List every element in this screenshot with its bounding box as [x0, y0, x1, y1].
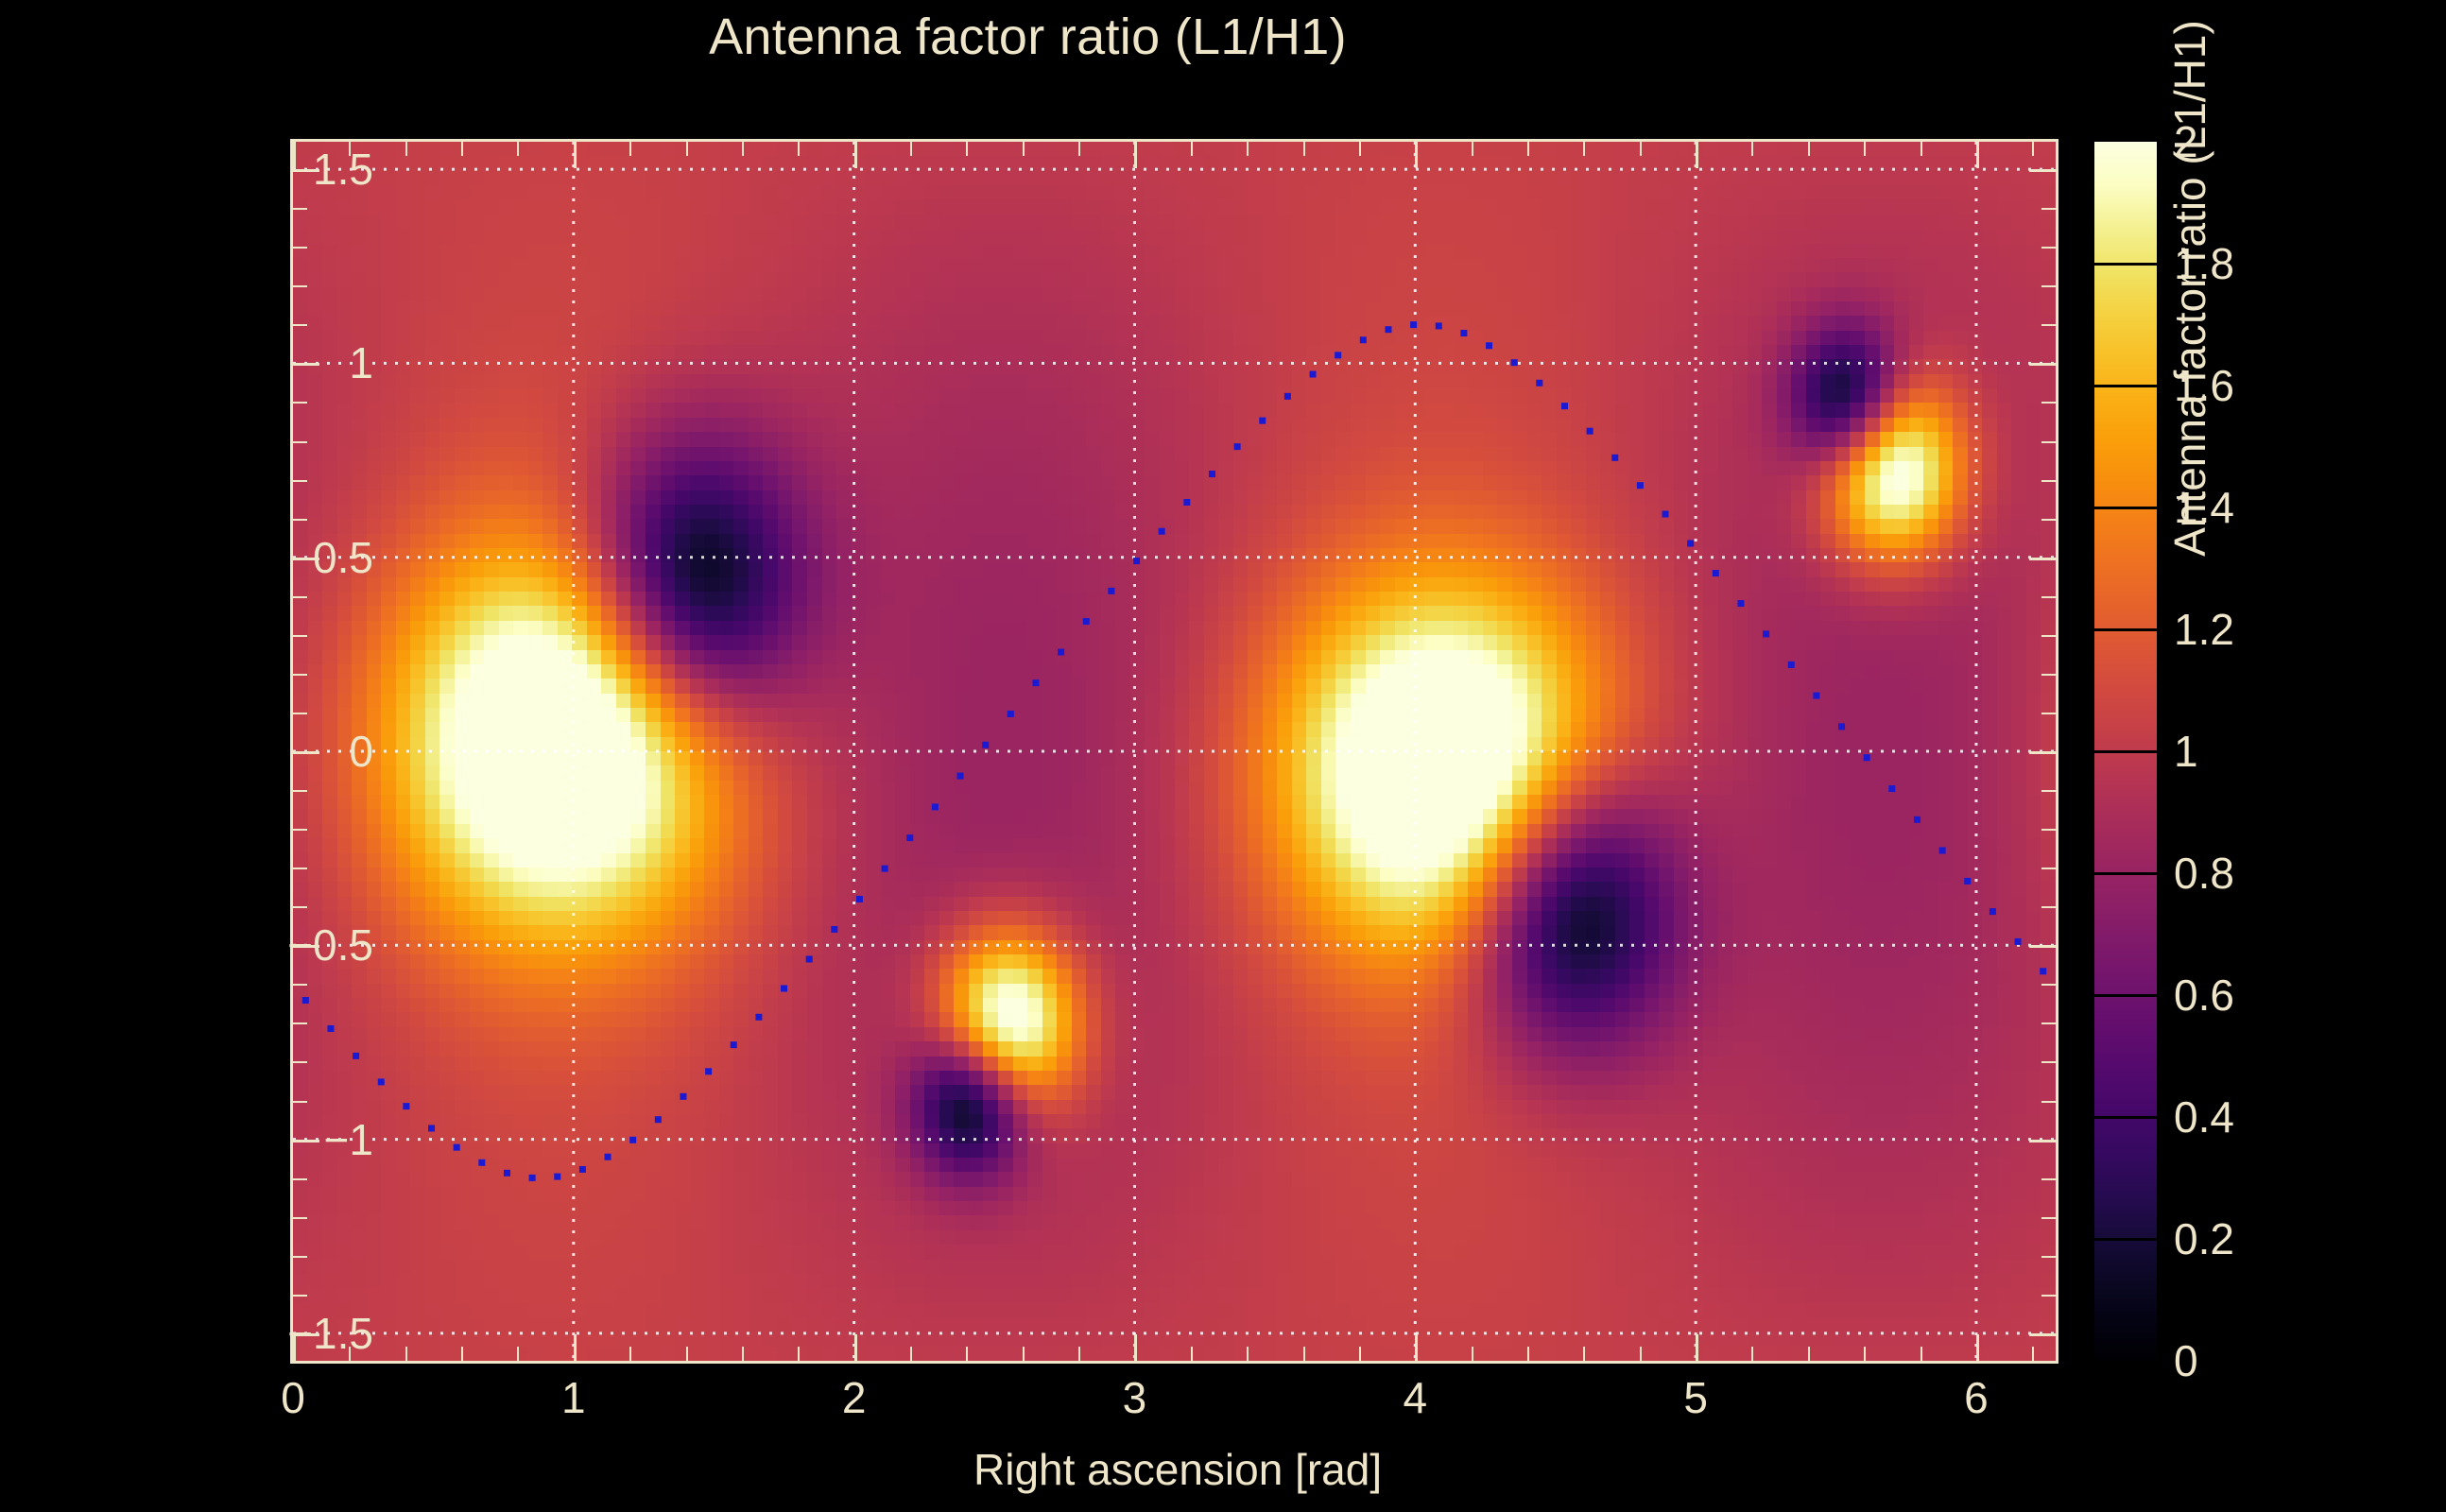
- axis-frame-bottom: [290, 1361, 2058, 1364]
- y-minor-tick: [293, 635, 307, 637]
- x-minor-tick-top: [2032, 142, 2034, 156]
- colorbar-tick-label: 0.6: [2174, 970, 2234, 1021]
- y-minor-tick: [293, 984, 307, 986]
- y-minor-tick-right: [2041, 1217, 2056, 1219]
- y-minor-tick-right: [2041, 1333, 2056, 1335]
- x-minor-tick: [1921, 1347, 1922, 1361]
- x-minor-tick-top: [1640, 142, 1642, 156]
- x-minor-tick-top: [686, 142, 688, 156]
- x-minor-tick: [1976, 1347, 1978, 1361]
- y-minor-tick: [293, 1295, 307, 1297]
- y-minor-tick-right: [2041, 1022, 2056, 1024]
- y-minor-tick: [293, 208, 307, 210]
- x-minor-tick-top: [1472, 142, 1473, 156]
- x-minor-tick-top: [1191, 142, 1193, 156]
- y-minor-tick-right: [2041, 247, 2056, 249]
- y-minor-tick: [293, 596, 307, 598]
- x-minor-tick-top: [910, 142, 912, 156]
- y-minor-tick: [293, 480, 307, 482]
- x-minor-tick: [1583, 1347, 1585, 1361]
- y-minor-tick-right: [2041, 829, 2056, 831]
- y-minor-tick-right: [2041, 441, 2056, 443]
- axis-frame-right: [2056, 142, 2058, 1361]
- y-minor-tick-right: [2041, 169, 2056, 171]
- x-minor-tick: [1864, 1347, 1866, 1361]
- y-minor-tick-right: [2041, 635, 2056, 637]
- colorbar-title: Antenna factor ratio (L1/H1): [2164, 0, 2215, 765]
- x-minor-tick: [742, 1347, 744, 1361]
- x-minor-tick-top: [1751, 142, 1753, 156]
- colorbar-tick: [2094, 507, 2157, 509]
- x-minor-tick-top: [1303, 142, 1305, 156]
- axis-frame-top: [290, 139, 2058, 142]
- heatmap-plot-area[interactable]: [293, 142, 2056, 1361]
- colorbar-tick-label: 0.4: [2174, 1091, 2234, 1143]
- x-tick-label: 1: [561, 1372, 586, 1423]
- y-tick-label: −1: [324, 1114, 373, 1165]
- page-title: Antenna factor ratio (L1/H1): [0, 8, 2056, 66]
- x-minor-tick-top: [405, 142, 407, 156]
- y-minor-tick: [293, 441, 307, 443]
- colorbar-tick: [2094, 1116, 2157, 1119]
- y-minor-tick-right: [2041, 984, 2056, 986]
- x-tick-label: 4: [1403, 1372, 1427, 1423]
- y-minor-tick: [293, 363, 307, 365]
- y-minor-tick-right: [2041, 1101, 2056, 1103]
- y-minor-tick: [293, 169, 307, 171]
- y-minor-tick: [293, 868, 307, 869]
- y-minor-tick-right: [2041, 1256, 2056, 1258]
- colorbar-tick-label: 0.2: [2174, 1213, 2234, 1264]
- x-minor-tick-top: [1696, 142, 1697, 156]
- colorbar-tick-label: 0: [2174, 1335, 2198, 1386]
- y-minor-tick: [293, 790, 307, 792]
- x-minor-tick-top: [1078, 142, 1080, 156]
- y-minor-tick-right: [2041, 558, 2056, 559]
- y-minor-tick-right: [2041, 751, 2056, 753]
- x-minor-tick-top: [1527, 142, 1529, 156]
- x-minor-tick: [2032, 1347, 2034, 1361]
- y-minor-tick-right: [2041, 790, 2056, 792]
- y-minor-tick: [293, 829, 307, 831]
- y-minor-tick-right: [2041, 1140, 2056, 1142]
- x-minor-tick: [1751, 1347, 1753, 1361]
- x-minor-tick-top: [1583, 142, 1585, 156]
- y-minor-tick-right: [2041, 519, 2056, 521]
- x-minor-tick: [1808, 1347, 1810, 1361]
- x-minor-tick: [405, 1347, 407, 1361]
- x-tick-label: 5: [1683, 1372, 1708, 1423]
- colorbar-tick: [2094, 263, 2157, 266]
- y-minor-tick: [293, 1140, 307, 1142]
- x-minor-tick-top: [574, 142, 576, 156]
- y-minor-tick-right: [2041, 285, 2056, 287]
- y-minor-tick: [293, 1101, 307, 1103]
- colorbar-tick: [2094, 994, 2157, 997]
- y-minor-tick: [293, 285, 307, 287]
- y-minor-tick-right: [2041, 945, 2056, 947]
- y-minor-tick-right: [2041, 1178, 2056, 1180]
- x-minor-tick: [517, 1347, 519, 1361]
- x-minor-tick: [966, 1347, 968, 1361]
- y-minor-tick-right: [2041, 868, 2056, 869]
- colorbar-tick: [2094, 750, 2157, 753]
- x-minor-tick-top: [629, 142, 631, 156]
- x-minor-tick-top: [854, 142, 856, 156]
- x-minor-tick: [461, 1347, 463, 1361]
- y-minor-tick-right: [2041, 208, 2056, 210]
- x-tick-label: 3: [1123, 1372, 1147, 1423]
- x-minor-tick: [1023, 1347, 1025, 1361]
- x-minor-tick-top: [1976, 142, 1978, 156]
- x-tick-label: 6: [1964, 1372, 1989, 1423]
- x-minor-tick-top: [293, 142, 295, 156]
- x-tick-label: 0: [281, 1372, 305, 1423]
- y-minor-tick: [293, 674, 307, 676]
- x-minor-tick-top: [798, 142, 800, 156]
- y-minor-tick-right: [2041, 596, 2056, 598]
- y-minor-tick: [293, 1178, 307, 1180]
- y-minor-tick-right: [2041, 324, 2056, 326]
- y-tick-label: 1.5: [313, 144, 373, 195]
- x-minor-tick: [910, 1347, 912, 1361]
- x-minor-tick-top: [1808, 142, 1810, 156]
- x-minor-tick: [686, 1347, 688, 1361]
- colorbar-tick: [2094, 628, 2157, 631]
- y-tick-label: 0: [349, 726, 373, 777]
- x-minor-tick-top: [1023, 142, 1025, 156]
- x-minor-tick-top: [1921, 142, 1922, 156]
- y-minor-tick: [293, 247, 307, 249]
- colorbar-tick: [2094, 872, 2157, 875]
- x-minor-tick: [1303, 1347, 1305, 1361]
- x-minor-tick-top: [742, 142, 744, 156]
- x-minor-tick: [1415, 1347, 1417, 1361]
- y-tick-label: 0.5: [313, 532, 373, 583]
- y-minor-tick-right: [2041, 713, 2056, 714]
- x-minor-tick-top: [517, 142, 519, 156]
- y-minor-tick: [293, 402, 307, 404]
- x-minor-tick: [574, 1347, 576, 1361]
- colorbar-tick-label: 0.8: [2174, 848, 2234, 899]
- y-minor-tick: [293, 1333, 307, 1335]
- x-minor-tick: [1527, 1347, 1529, 1361]
- y-minor-tick-right: [2041, 906, 2056, 908]
- y-minor-tick: [293, 1217, 307, 1219]
- x-minor-tick-top: [1134, 142, 1136, 156]
- y-tick-label: 1: [349, 337, 373, 388]
- y-minor-tick: [293, 945, 307, 947]
- x-minor-tick-top: [1415, 142, 1417, 156]
- x-minor-tick-top: [1864, 142, 1866, 156]
- y-minor-tick-right: [2041, 1061, 2056, 1063]
- y-minor-tick: [293, 1256, 307, 1258]
- y-minor-tick: [293, 713, 307, 714]
- x-minor-tick-top: [966, 142, 968, 156]
- x-tick-label: 2: [842, 1372, 867, 1423]
- plot-canvas-root: Antenna factor ratio (L1/H1) 01234561.51…: [0, 0, 2446, 1512]
- colorbar-tick: [2094, 1238, 2157, 1241]
- x-minor-tick: [1472, 1347, 1473, 1361]
- y-minor-tick: [293, 558, 307, 559]
- colorbar-tick: [2094, 385, 2157, 387]
- y-minor-tick-right: [2041, 480, 2056, 482]
- x-axis-title: Right ascension [rad]: [973, 1444, 1382, 1495]
- y-minor-tick: [293, 324, 307, 326]
- x-minor-tick: [1247, 1347, 1249, 1361]
- x-minor-tick: [1134, 1347, 1136, 1361]
- x-minor-tick: [854, 1347, 856, 1361]
- y-minor-tick-right: [2041, 363, 2056, 365]
- y-minor-tick-right: [2041, 1295, 2056, 1297]
- y-minor-tick-right: [2041, 402, 2056, 404]
- y-minor-tick: [293, 751, 307, 753]
- y-minor-tick: [293, 906, 307, 908]
- x-minor-tick: [1078, 1347, 1080, 1361]
- x-minor-tick-top: [1359, 142, 1361, 156]
- x-minor-tick: [1191, 1347, 1193, 1361]
- heatmap-image: [293, 142, 2056, 1361]
- x-minor-tick: [798, 1347, 800, 1361]
- x-minor-tick: [1696, 1347, 1697, 1361]
- y-minor-tick: [293, 519, 307, 521]
- y-minor-tick: [293, 1061, 307, 1063]
- y-minor-tick: [293, 1022, 307, 1024]
- x-minor-tick-top: [461, 142, 463, 156]
- y-minor-tick-right: [2041, 674, 2056, 676]
- x-minor-tick: [1640, 1347, 1642, 1361]
- x-minor-tick: [1359, 1347, 1361, 1361]
- x-minor-tick: [629, 1347, 631, 1361]
- x-minor-tick-top: [1247, 142, 1249, 156]
